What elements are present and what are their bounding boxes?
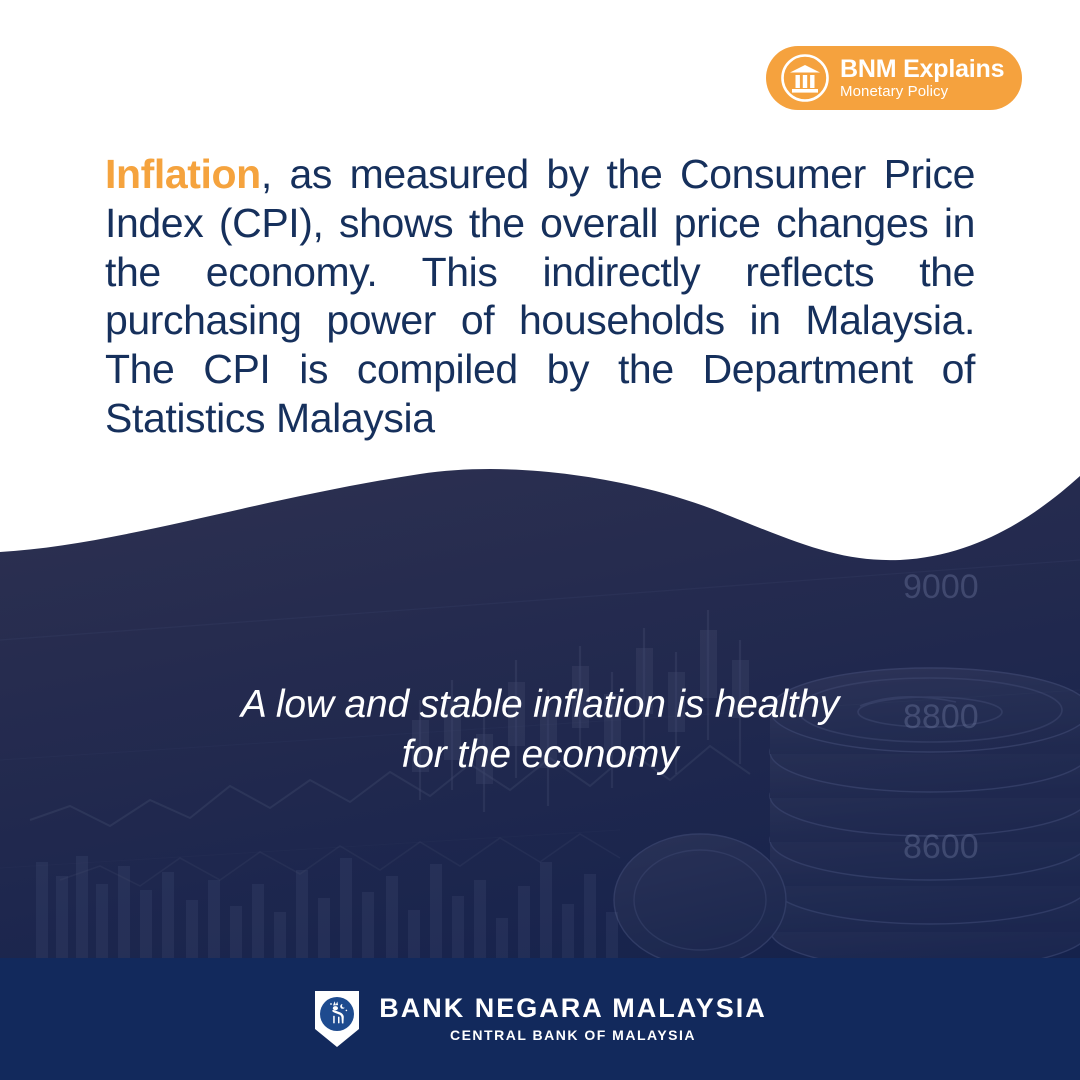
footer-logo-group: BANK NEGARA MALAYSIA CENTRAL BANK OF MAL… [313, 989, 767, 1049]
chart-label-9000: 9000 [903, 568, 979, 606]
chart-label-8600: 8600 [903, 828, 979, 866]
infographic-card: 9000 8800 8600 BNM Explains Monetary Pol… [0, 0, 1080, 1080]
wave-background-svg: 9000 8800 8600 [0, 0, 1080, 1080]
footer-tagline: CENTRAL BANK OF MALAYSIA [379, 1028, 767, 1043]
footer-text-group: BANK NEGARA MALAYSIA CENTRAL BANK OF MAL… [379, 994, 767, 1043]
footer-bar: BANK NEGARA MALAYSIA CENTRAL BANK OF MAL… [0, 958, 1080, 1080]
badge-subtitle: Monetary Policy [840, 84, 1004, 100]
footer-org-name: BANK NEGARA MALAYSIA [379, 994, 767, 1024]
dark-wave-panel: 9000 8800 8600 [0, 0, 1080, 1080]
quote-line-1: A low and stable inflation is healthy [0, 680, 1080, 730]
badge-title: BNM Explains [840, 56, 1004, 82]
badge-text-group: BNM Explains Monetary Policy [840, 56, 1004, 100]
quote-block: A low and stable inflation is healthy fo… [0, 680, 1080, 780]
quote-line-2: for the economy [0, 730, 1080, 780]
bnm-shield-kijang-logo [313, 989, 361, 1049]
bank-building-icon [780, 53, 830, 103]
bnm-explains-badge[interactable]: BNM Explains Monetary Policy [766, 46, 1022, 110]
